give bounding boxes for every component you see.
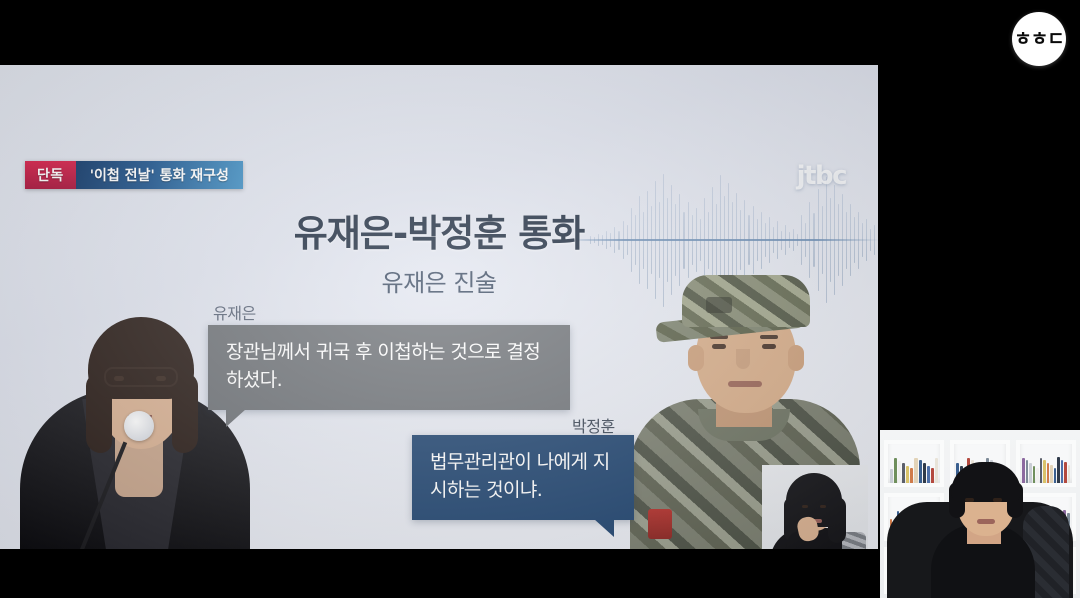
book-spine bbox=[1040, 458, 1043, 484]
cap-insignia bbox=[706, 297, 732, 313]
book-spine bbox=[890, 469, 893, 484]
interpreter-eye-left bbox=[802, 505, 808, 508]
bubble-tail bbox=[594, 519, 614, 537]
book-spine bbox=[1043, 460, 1046, 483]
mouth bbox=[728, 381, 762, 387]
channel-logo-badge[interactable]: ㅎㅎㄷ bbox=[1012, 12, 1066, 66]
book-spine bbox=[910, 468, 913, 483]
book-spine bbox=[894, 458, 897, 483]
quote-bubble-park: 법무관리관이 나에게 지시하는 것이냐. bbox=[412, 435, 634, 520]
sign-language-interpreter-inset bbox=[762, 465, 868, 549]
bubble-tail bbox=[226, 409, 246, 427]
eye-left bbox=[712, 344, 726, 349]
quote-text-park: 법무관리관이 나에게 지시하는 것이냐. bbox=[430, 451, 610, 501]
book-spine bbox=[1033, 466, 1036, 484]
book-spine bbox=[1047, 463, 1050, 484]
streamer-webcam-overlay bbox=[880, 430, 1080, 598]
shelf-cubby bbox=[1016, 440, 1076, 487]
streamer-figure bbox=[905, 488, 1055, 598]
unit-patch bbox=[648, 509, 672, 539]
book-spine bbox=[1054, 468, 1057, 484]
news-broadcast-panel: 단독 '이첩 전날' 통화 재구성 jtbc 유재은-박정훈 통화 유재은 진술 bbox=[0, 65, 878, 549]
eye-right bbox=[156, 376, 166, 381]
book-spine bbox=[1026, 460, 1029, 483]
channel-logo-glyphs: ㅎㅎㄷ bbox=[1014, 30, 1063, 49]
speaker-label-right: 박정훈 bbox=[572, 413, 615, 437]
book-spine bbox=[1057, 457, 1060, 483]
book-spine bbox=[1064, 462, 1067, 483]
streamer-mouth bbox=[977, 519, 995, 524]
book-spine bbox=[919, 460, 922, 483]
book-spine bbox=[906, 466, 909, 484]
book-spine bbox=[1022, 458, 1025, 483]
book-spine bbox=[902, 463, 905, 483]
book-spine bbox=[1061, 460, 1064, 483]
speaker-label-left: 유재은 bbox=[213, 300, 256, 324]
book-spine bbox=[1036, 468, 1039, 483]
book-spine bbox=[931, 468, 934, 483]
ear-left bbox=[688, 345, 704, 371]
microphone-head-icon bbox=[124, 411, 154, 441]
breaking-news-banner: 단독 '이첩 전날' 통화 재구성 bbox=[25, 161, 243, 189]
book-spine bbox=[1029, 463, 1032, 483]
interpreter-eye-right bbox=[820, 505, 826, 508]
quote-text-yoo: 장관님께서 귀국 후 이첩하는 것으로 결정하셨다. bbox=[226, 341, 540, 391]
nose bbox=[736, 349, 750, 369]
book-spine bbox=[927, 466, 930, 484]
book-spine bbox=[898, 461, 901, 484]
jtbc-watermark-logo: jtbc bbox=[797, 161, 846, 191]
streamer-eye-right bbox=[993, 498, 1002, 502]
eye-right bbox=[762, 344, 776, 349]
book-row bbox=[890, 455, 938, 483]
shelf-cubby bbox=[884, 440, 944, 487]
eyebrow-right bbox=[760, 335, 778, 339]
book-spine bbox=[914, 458, 917, 483]
book-spine bbox=[1050, 465, 1053, 483]
banner-headline: '이첩 전날' 통화 재구성 bbox=[76, 161, 243, 189]
streamer-eye-left bbox=[965, 498, 974, 502]
book-row bbox=[1022, 455, 1070, 483]
exclusive-tag: 단독 bbox=[25, 161, 76, 189]
quote-bubble-yoo: 장관님께서 귀국 후 이첩하는 것으로 결정하셨다. bbox=[208, 325, 570, 410]
book-spine bbox=[935, 458, 938, 484]
camouflage-cap bbox=[682, 275, 810, 327]
screen-root: 단독 '이첩 전날' 통화 재구성 jtbc 유재은-박정훈 통화 유재은 진술 bbox=[0, 0, 1080, 598]
eye-left bbox=[114, 376, 124, 381]
book-spine bbox=[1068, 465, 1071, 483]
book-spine bbox=[923, 463, 926, 483]
ear-right bbox=[788, 345, 804, 371]
